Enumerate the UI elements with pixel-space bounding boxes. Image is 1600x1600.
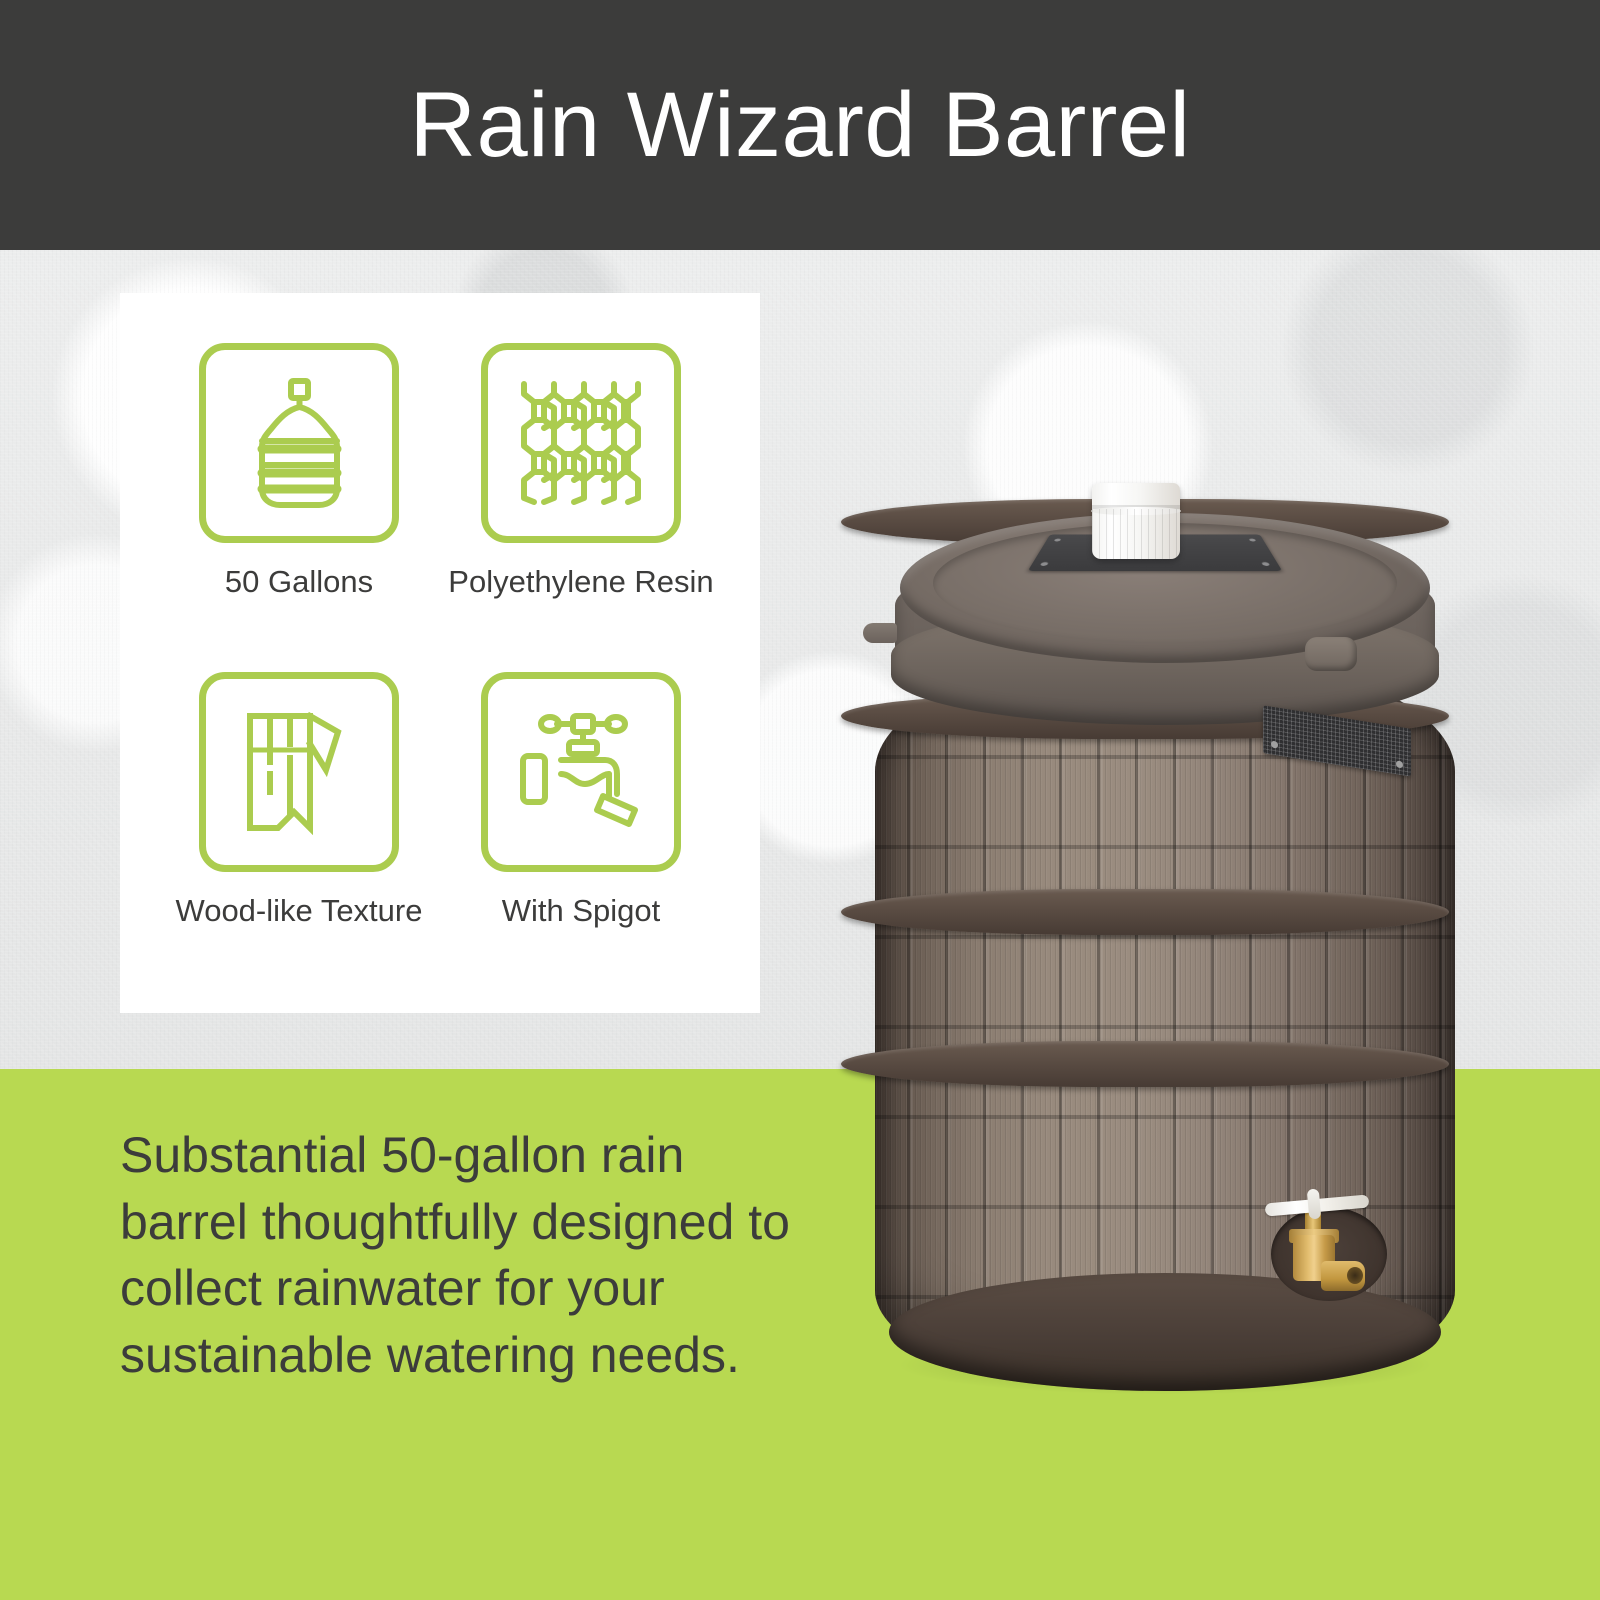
feature-item-texture: Wood-like Texture xyxy=(158,672,440,983)
faucet-spigot-icon xyxy=(517,712,645,832)
feature-item-resin: Polyethylene Resin xyxy=(440,343,722,654)
feature-grid: 50 Gallons xyxy=(120,293,760,1013)
screw-icon xyxy=(1248,538,1256,541)
screw-icon xyxy=(1271,741,1278,749)
screw-icon xyxy=(1040,562,1050,566)
water-jug-icon xyxy=(243,377,355,509)
page-title: Rain Wizard Barrel xyxy=(410,79,1191,171)
feature-item-spigot: With Spigot xyxy=(440,672,722,983)
feature-icon-box xyxy=(481,343,681,543)
page-header: Rain Wizard Barrel xyxy=(0,0,1600,250)
feature-label: Wood-like Texture xyxy=(176,894,423,928)
screw-icon xyxy=(1261,562,1271,566)
feature-card: 50 Gallons xyxy=(120,293,760,1013)
feature-item-gallons: 50 Gallons xyxy=(158,343,440,654)
feature-label: 50 Gallons xyxy=(225,565,373,599)
spigot-hole xyxy=(1347,1267,1363,1284)
lid-left-nub xyxy=(863,623,897,643)
screw-icon xyxy=(1396,760,1403,768)
diverter-ribs xyxy=(1092,509,1180,559)
downspout-diverter xyxy=(1092,483,1180,559)
wood-plank-icon xyxy=(244,710,354,835)
product-description: Substantial 50-gallon rain barrel though… xyxy=(120,1122,820,1388)
feature-label: Polyethylene Resin xyxy=(448,565,713,599)
screw-icon xyxy=(1053,538,1061,541)
feature-icon-box xyxy=(481,672,681,872)
spigot-handle-vertical xyxy=(1307,1189,1322,1220)
feature-icon-box xyxy=(199,672,399,872)
barrel-hoop-lower xyxy=(841,889,1449,935)
honeycomb-mesh-icon xyxy=(516,378,646,508)
barrel-hoop-bottom xyxy=(841,1041,1449,1087)
lid-side-knob xyxy=(1305,637,1357,671)
rain-barrel-photo xyxy=(855,455,1475,1395)
feature-icon-box xyxy=(199,343,399,543)
feature-label: With Spigot xyxy=(502,894,661,928)
product-infographic: Rain Wizard Barrel xyxy=(0,0,1600,1600)
